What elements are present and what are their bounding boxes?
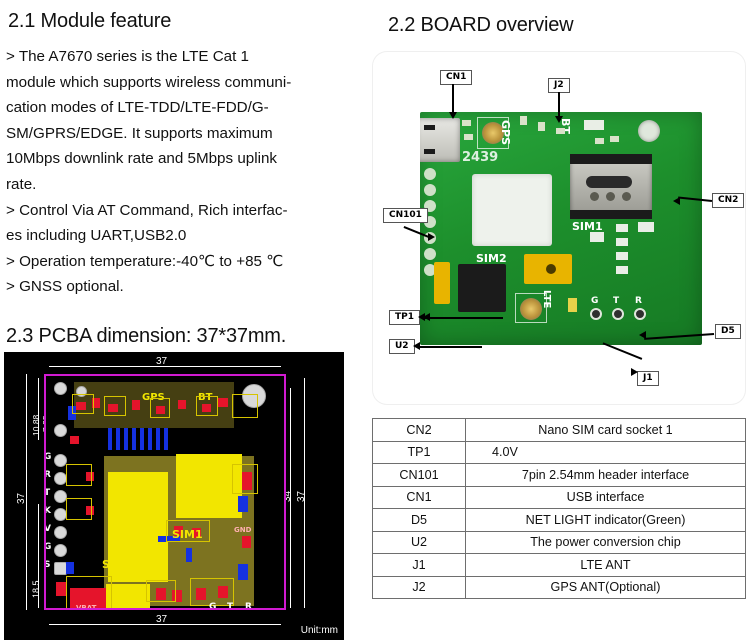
table-row: U2 The power conversion chip (373, 531, 746, 554)
cell-designator: TP1 (373, 441, 466, 464)
table-row: CN101 7pin 2.54mm header interface (373, 464, 746, 487)
cell-designator: J1 (373, 554, 466, 577)
silk-2439: 2439 (462, 150, 498, 165)
cell-description: 7pin 2.54mm header interface (466, 464, 746, 487)
dim-left-height: 37 (16, 493, 27, 504)
cell-designator: U2 (373, 531, 466, 554)
table-row: TP1 4.0V (373, 441, 746, 464)
section-heading-module-feature: 2.1 Module feature (8, 10, 171, 33)
silk-gps: GPS (499, 120, 512, 145)
silk-t: T (227, 602, 233, 608)
cell-designator: D5 (373, 509, 466, 532)
silk-gnd: GND (234, 526, 251, 534)
silk-t: T (613, 296, 619, 306)
pin-label: R (46, 470, 51, 480)
section-heading-pcba-dimension: 2.3 PCBA dimension: 37*37mm. (6, 325, 286, 348)
pin-label: V (46, 524, 51, 534)
feature-line: > GNSS optional. (6, 274, 358, 300)
feature-line: > The A7670 series is the LTE Cat 1 (6, 44, 358, 70)
callout-cn1: CN1 (440, 70, 472, 85)
section-heading-board-overview: 2.2 BOARD overview (388, 14, 573, 37)
callout-j2: J2 (548, 78, 570, 93)
silk-r: R (245, 602, 252, 608)
table-row: J2 GPS ANT(Optional) (373, 576, 746, 599)
callout-d5: D5 (715, 324, 741, 339)
tp1-capacitor (434, 262, 450, 304)
cell-description: The power conversion chip (466, 531, 746, 554)
table-row: CN2 Nano SIM card socket 1 (373, 419, 746, 442)
cell-description: USB interface (466, 486, 746, 509)
table-row: D5 NET LIGHT indicator(Green) (373, 509, 746, 532)
silk-sim2: SIM2 (102, 558, 133, 571)
left-column: 2.1 Module feature > The A7670 series is… (0, 0, 368, 642)
dim-bottom-width: 37 (156, 614, 167, 625)
silk-g: G (209, 602, 216, 608)
datasheet-page: 2.1 Module feature > The A7670 series is… (0, 0, 749, 642)
silk-vbat: VBAT (76, 604, 96, 608)
feature-line: module which supports wireless communi- (6, 70, 358, 96)
pin-label: G (46, 542, 51, 552)
power-conversion-chip (458, 264, 506, 312)
pcb-outline: G R T K V G S GPS BT (44, 374, 286, 610)
feature-line: es including UART,USB2.0 (6, 223, 358, 249)
callout-tp1: TP1 (389, 310, 420, 325)
callout-j1: J1 (637, 371, 659, 386)
feature-line: rate. (6, 172, 358, 198)
dim-left-upper-a: 10.88 (31, 415, 41, 436)
dim-left-lower: 18.5 (31, 580, 41, 598)
feature-line: 10Mbps downlink rate and 5Mbps uplink (6, 146, 358, 172)
pin-label: T (46, 488, 50, 498)
feature-line: > Control Via AT Command, Rich interfac- (6, 198, 358, 224)
cell-description: 4.0V (466, 441, 746, 464)
feature-line: > Operation temperature:-40℃ to +85 ℃ (6, 249, 358, 275)
pin-label: S (46, 560, 50, 570)
silk-sim1: SIM1 (172, 528, 203, 541)
pin-label: G (46, 452, 51, 462)
interface-table: CN2 Nano SIM card socket 1 TP1 4.0V CN10… (372, 418, 746, 599)
cell-designator: CN1 (373, 486, 466, 509)
unit-label: Unit:mm (301, 625, 338, 636)
feature-line: cation modes of LTE-TDD/LTE-FDD/G- (6, 95, 358, 121)
table-row: CN1 USB interface (373, 486, 746, 509)
dim-right-height: 37 (296, 491, 307, 502)
module-feature-list: > The A7670 series is the LTE Cat 1 modu… (6, 44, 358, 300)
pcba-dimension-diagram: 37 37 37 10.88 7.25 18.5 37 34 (4, 352, 344, 640)
cell-description: Nano SIM card socket 1 (466, 419, 746, 442)
cell-designator: CN101 (373, 464, 466, 487)
dim-top-width: 37 (156, 356, 167, 367)
cell-description: LTE ANT (466, 554, 746, 577)
cell-designator: J2 (373, 576, 466, 599)
feature-line: SM/GPRS/EDGE. It supports maximum (6, 121, 358, 147)
callout-cn2: CN2 (712, 193, 744, 208)
board-photo: GPS BT 2439 SIM (420, 112, 702, 345)
silk-lte: LTE (541, 290, 552, 308)
callout-cn101: CN101 (383, 208, 428, 223)
cell-description: NET LIGHT indicator(Green) (466, 509, 746, 532)
silk-r: R (635, 296, 642, 306)
table-row: J1 LTE ANT (373, 554, 746, 577)
cell-designator: CN2 (373, 419, 466, 442)
net-light-led (568, 298, 577, 312)
cell-description: GPS ANT(Optional) (466, 576, 746, 599)
pin-label: K (46, 506, 51, 516)
lte-module-shield (472, 174, 552, 246)
silk-g: G (591, 296, 598, 306)
callout-u2: U2 (389, 339, 415, 354)
